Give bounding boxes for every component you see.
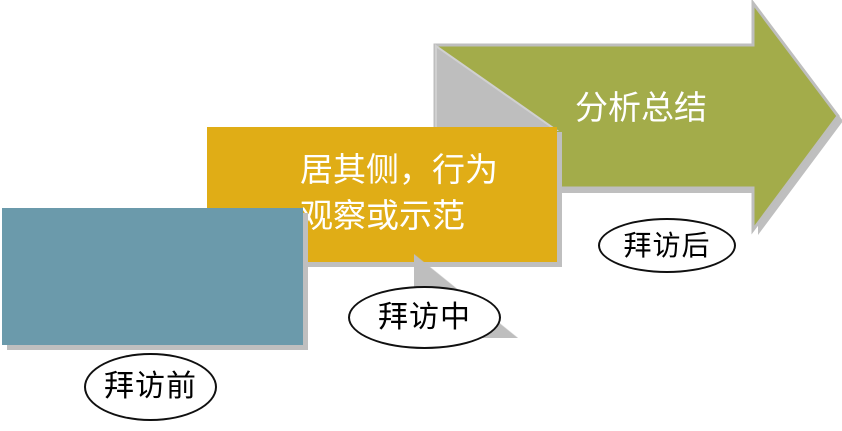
phase-label-after-text: 拜访后 bbox=[623, 232, 710, 260]
diagram-canvas: 分析总结 居其侧，行为 观察或示范 选择指导对象 和指导方式 拜访前 拜访中 拜… bbox=[0, 0, 842, 431]
phase-label-after[interactable]: 拜访后 bbox=[598, 218, 736, 273]
phase-label-during[interactable]: 拜访中 bbox=[348, 286, 501, 349]
phase-label-during-text: 拜访中 bbox=[378, 303, 471, 333]
phase-label-before[interactable]: 拜访前 bbox=[84, 353, 217, 421]
phase-label-before-text: 拜访前 bbox=[104, 372, 197, 402]
step3-folded-corner bbox=[436, 46, 556, 130]
step2-body-text: 居其侧，行为 观察或示范 bbox=[300, 147, 570, 239]
step3-body-text: 分析总结 bbox=[575, 86, 707, 130]
step1-box[interactable]: 选择指导对象 和指导方式 bbox=[2, 208, 303, 345]
